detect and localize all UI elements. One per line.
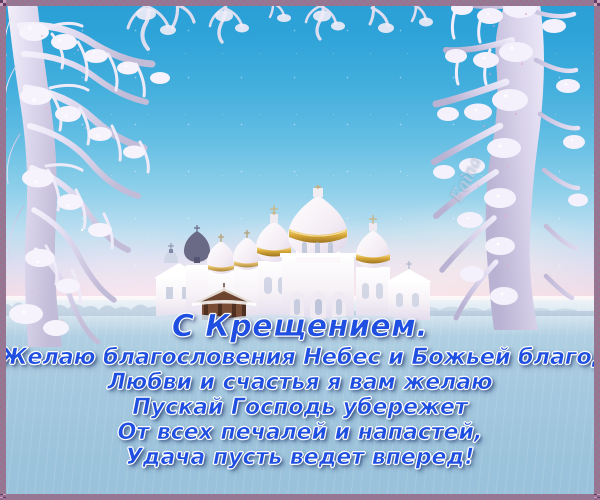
- cathedral-main-dome: [280, 185, 356, 320]
- greeting-line-1: Желаю благословения Небес и Божьей благо…: [0, 346, 600, 369]
- greeting-line-5: Удача пусть ведет вперед!: [0, 447, 600, 469]
- frost-tree-left: [0, 0, 205, 347]
- greeting-line-3: Пускай Господь убережет: [0, 397, 600, 419]
- greeting-card: Faina С Крещением. Желаю благословения Н…: [0, 0, 600, 500]
- cathedral-dome-right: [356, 215, 390, 320]
- greeting-title: С Крещением.: [0, 312, 600, 342]
- frost-tree-right: [398, 0, 600, 335]
- greeting-text-block: С Крещением. Желаю благословения Небес и…: [0, 312, 600, 469]
- greeting-line-2: Любви и счастья я вам желаю: [0, 372, 600, 394]
- greeting-line-4: От всех печалей и напастей,: [0, 422, 600, 444]
